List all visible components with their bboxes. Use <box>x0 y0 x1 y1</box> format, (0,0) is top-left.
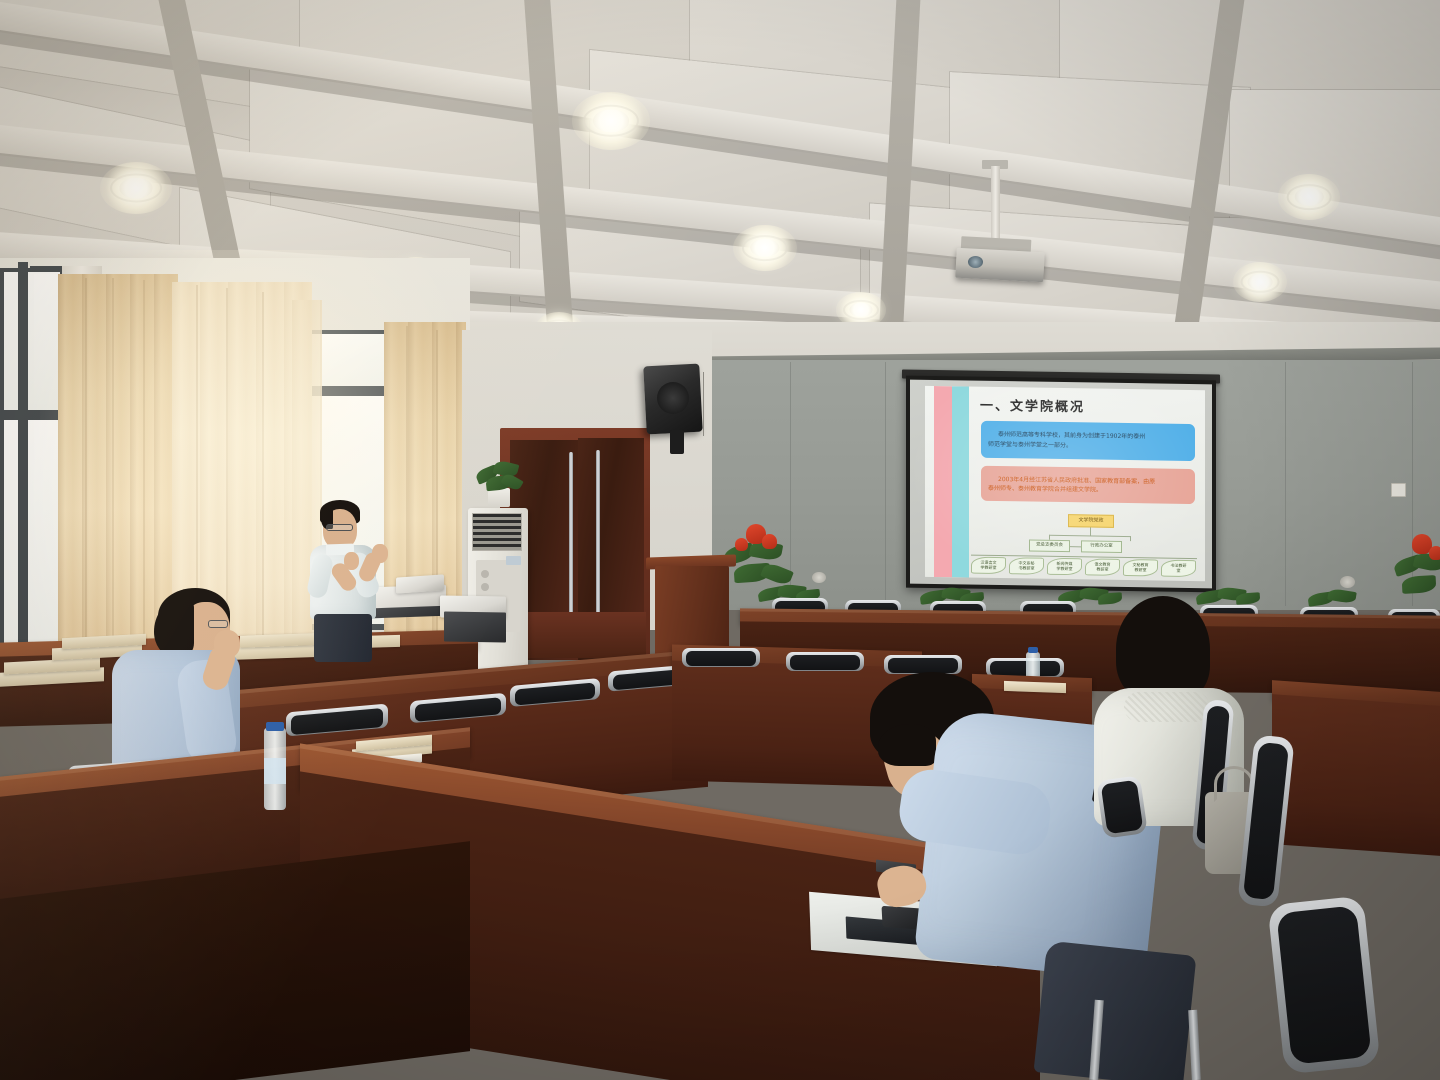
presenter-trousers <box>314 614 372 662</box>
air-conditioner-button[interactable] <box>481 583 489 591</box>
org-leaf-label: 语文教育 教研室 <box>1095 563 1111 572</box>
door-kickplate <box>510 612 646 658</box>
window-mullion <box>0 410 64 420</box>
attendee-left-hand-on-chin <box>214 630 240 658</box>
attendee-right-hair <box>1116 596 1210 702</box>
slide-salmon-line-2: 泰州师专、泰州教育学院合并组建文学院。 <box>988 483 1188 495</box>
air-conditioner-badge <box>506 556 521 565</box>
water-bottle-label <box>264 758 286 784</box>
conference-room-photo: 一、文学院概况 泰州师范高等专科学校，其前身为创建于1902年的泰州 师范学堂与… <box>0 0 1440 1080</box>
org-chart-connector <box>1070 546 1081 547</box>
chair-backrest <box>1101 780 1144 835</box>
org-chart-mid-box-1: 党总支委员会 <box>1029 539 1070 552</box>
org-leaf-label: 汉语言文 学教研室 <box>981 561 997 570</box>
chair-foreground-right[interactable] <box>1276 900 1386 1080</box>
presenter-glasses <box>326 524 353 531</box>
slide-pink-bar <box>934 386 952 577</box>
ceiling-downlight-1 <box>572 92 650 150</box>
water-bottle-cap <box>266 722 284 731</box>
table-far-right-front <box>1272 694 1440 856</box>
office-equipment-body <box>444 611 506 642</box>
attendee-foreground-trousers <box>1034 941 1197 1080</box>
ceiling-downlight-7 <box>1278 174 1340 220</box>
plant-flower <box>1429 546 1440 560</box>
ceiling-downlight-3 <box>733 225 797 271</box>
org-leaf-label: 书法教研 室 <box>1171 564 1187 573</box>
chair-mid-row[interactable] <box>510 682 600 708</box>
projector-pole <box>991 166 1000 242</box>
attendee-left-hair-back <box>154 602 194 656</box>
org-chart-top-box: 文学院党政 <box>1068 514 1114 528</box>
slide-blue-line-2: 师范学堂与泰州学堂之一部分。 <box>988 439 1188 451</box>
curtain-fold <box>85 278 87 698</box>
door-handle-right[interactable] <box>596 450 600 616</box>
speaker-cone <box>657 382 689 414</box>
projection-screen-border: 一、文学院概况 泰州师范高等专科学校，其前身为创建于1902年的泰州 师范学堂与… <box>906 376 1216 593</box>
wall-panel-seam <box>885 362 886 608</box>
org-chart-mid-box-2: 行政办公室 <box>1081 540 1122 553</box>
org-chart-leaf-3: 新闻传媒 学教研室 <box>1047 558 1082 576</box>
org-leaf-label: 中文系秘 书教研室 <box>1019 562 1035 571</box>
chair-behind-foreground[interactable] <box>1100 778 1146 840</box>
org-chart-leaf-1: 汉语言文 学教研室 <box>971 557 1006 575</box>
speaker-cable <box>703 372 704 436</box>
chair-backrest <box>888 658 958 673</box>
window-frame-second <box>18 262 28 702</box>
air-conditioner-vent <box>472 513 522 551</box>
plant-flower <box>735 538 748 551</box>
org-chart-connector <box>1090 527 1091 535</box>
chair-leg <box>1188 1010 1201 1080</box>
curtain-fold <box>406 326 408 676</box>
plant-leaf <box>1327 588 1357 604</box>
chair-mid-row[interactable] <box>410 697 506 725</box>
curtain-fold <box>436 330 438 674</box>
org-leaf-label: 新闻传媒 学教研室 <box>1057 562 1073 571</box>
water-bottle-cap <box>1028 647 1038 653</box>
org-chart-leaf-2: 中文系秘 书教研室 <box>1009 557 1044 575</box>
presenter <box>296 500 406 660</box>
presentation-slide: 一、文学院概况 泰州师范高等专科学校，其前身为创建于1902年的泰州 师范学堂与… <box>925 386 1205 581</box>
chair-mid-row[interactable] <box>786 652 864 674</box>
air-conditioner-button[interactable] <box>481 570 489 578</box>
wall-panel-seam <box>1285 362 1286 606</box>
slide-blue-box: 泰州师范高等专科学校，其前身为创建于1902年的泰州 师范学堂与泰州学堂之一部分… <box>981 421 1195 461</box>
attendee-foreground-hair-front <box>878 724 936 766</box>
plant-flower <box>762 534 777 549</box>
org-leaf-label: 文秘教育 教研室 <box>1133 563 1149 572</box>
presenter-hand-left <box>372 544 388 563</box>
door-handle-left[interactable] <box>569 452 573 614</box>
chair-backrest <box>686 651 756 666</box>
org-chart-connector <box>1130 536 1131 541</box>
wall-speaker-knob <box>1340 576 1355 588</box>
org-chart-leaf-4: 语文教育 教研室 <box>1085 558 1120 576</box>
org-chart-leaf-6: 书法教研 室 <box>1161 560 1196 578</box>
slide-title: 一、文学院概况 <box>980 395 1085 416</box>
ceiling-downlight-2 <box>100 162 172 214</box>
chair-mid-row[interactable] <box>286 708 388 738</box>
chair-backrest <box>1276 905 1371 1065</box>
presenter-hand-right <box>344 552 359 570</box>
slide-salmon-box: 2003年4月经江苏省人民政府批准、国家教育部备案，由原 泰州师专、泰州教育学院… <box>981 466 1195 504</box>
ceiling-downlight-8 <box>1233 262 1287 302</box>
plant-leaf <box>1402 575 1437 594</box>
speaker-bracket <box>670 430 684 454</box>
projector-lens <box>968 256 983 268</box>
plant-on-ac <box>470 452 526 508</box>
org-chart-leaf-5: 文秘教育 教研室 <box>1123 559 1158 577</box>
wall-switch[interactable] <box>1391 483 1406 497</box>
chair-backrest <box>790 655 860 670</box>
org-chart-connector <box>1049 535 1131 537</box>
slide-cyan-bar <box>952 386 969 577</box>
chair-mid-row[interactable] <box>682 648 760 670</box>
attendee-left-glasses <box>208 620 228 628</box>
plant-flowers-right <box>1392 528 1440 608</box>
projection-screen-surface: 一、文学院概况 泰州师范高等专科学校，其前身为创建于1902年的泰州 师范学堂与… <box>910 380 1212 589</box>
chair-front-right[interactable] <box>1246 736 1292 916</box>
